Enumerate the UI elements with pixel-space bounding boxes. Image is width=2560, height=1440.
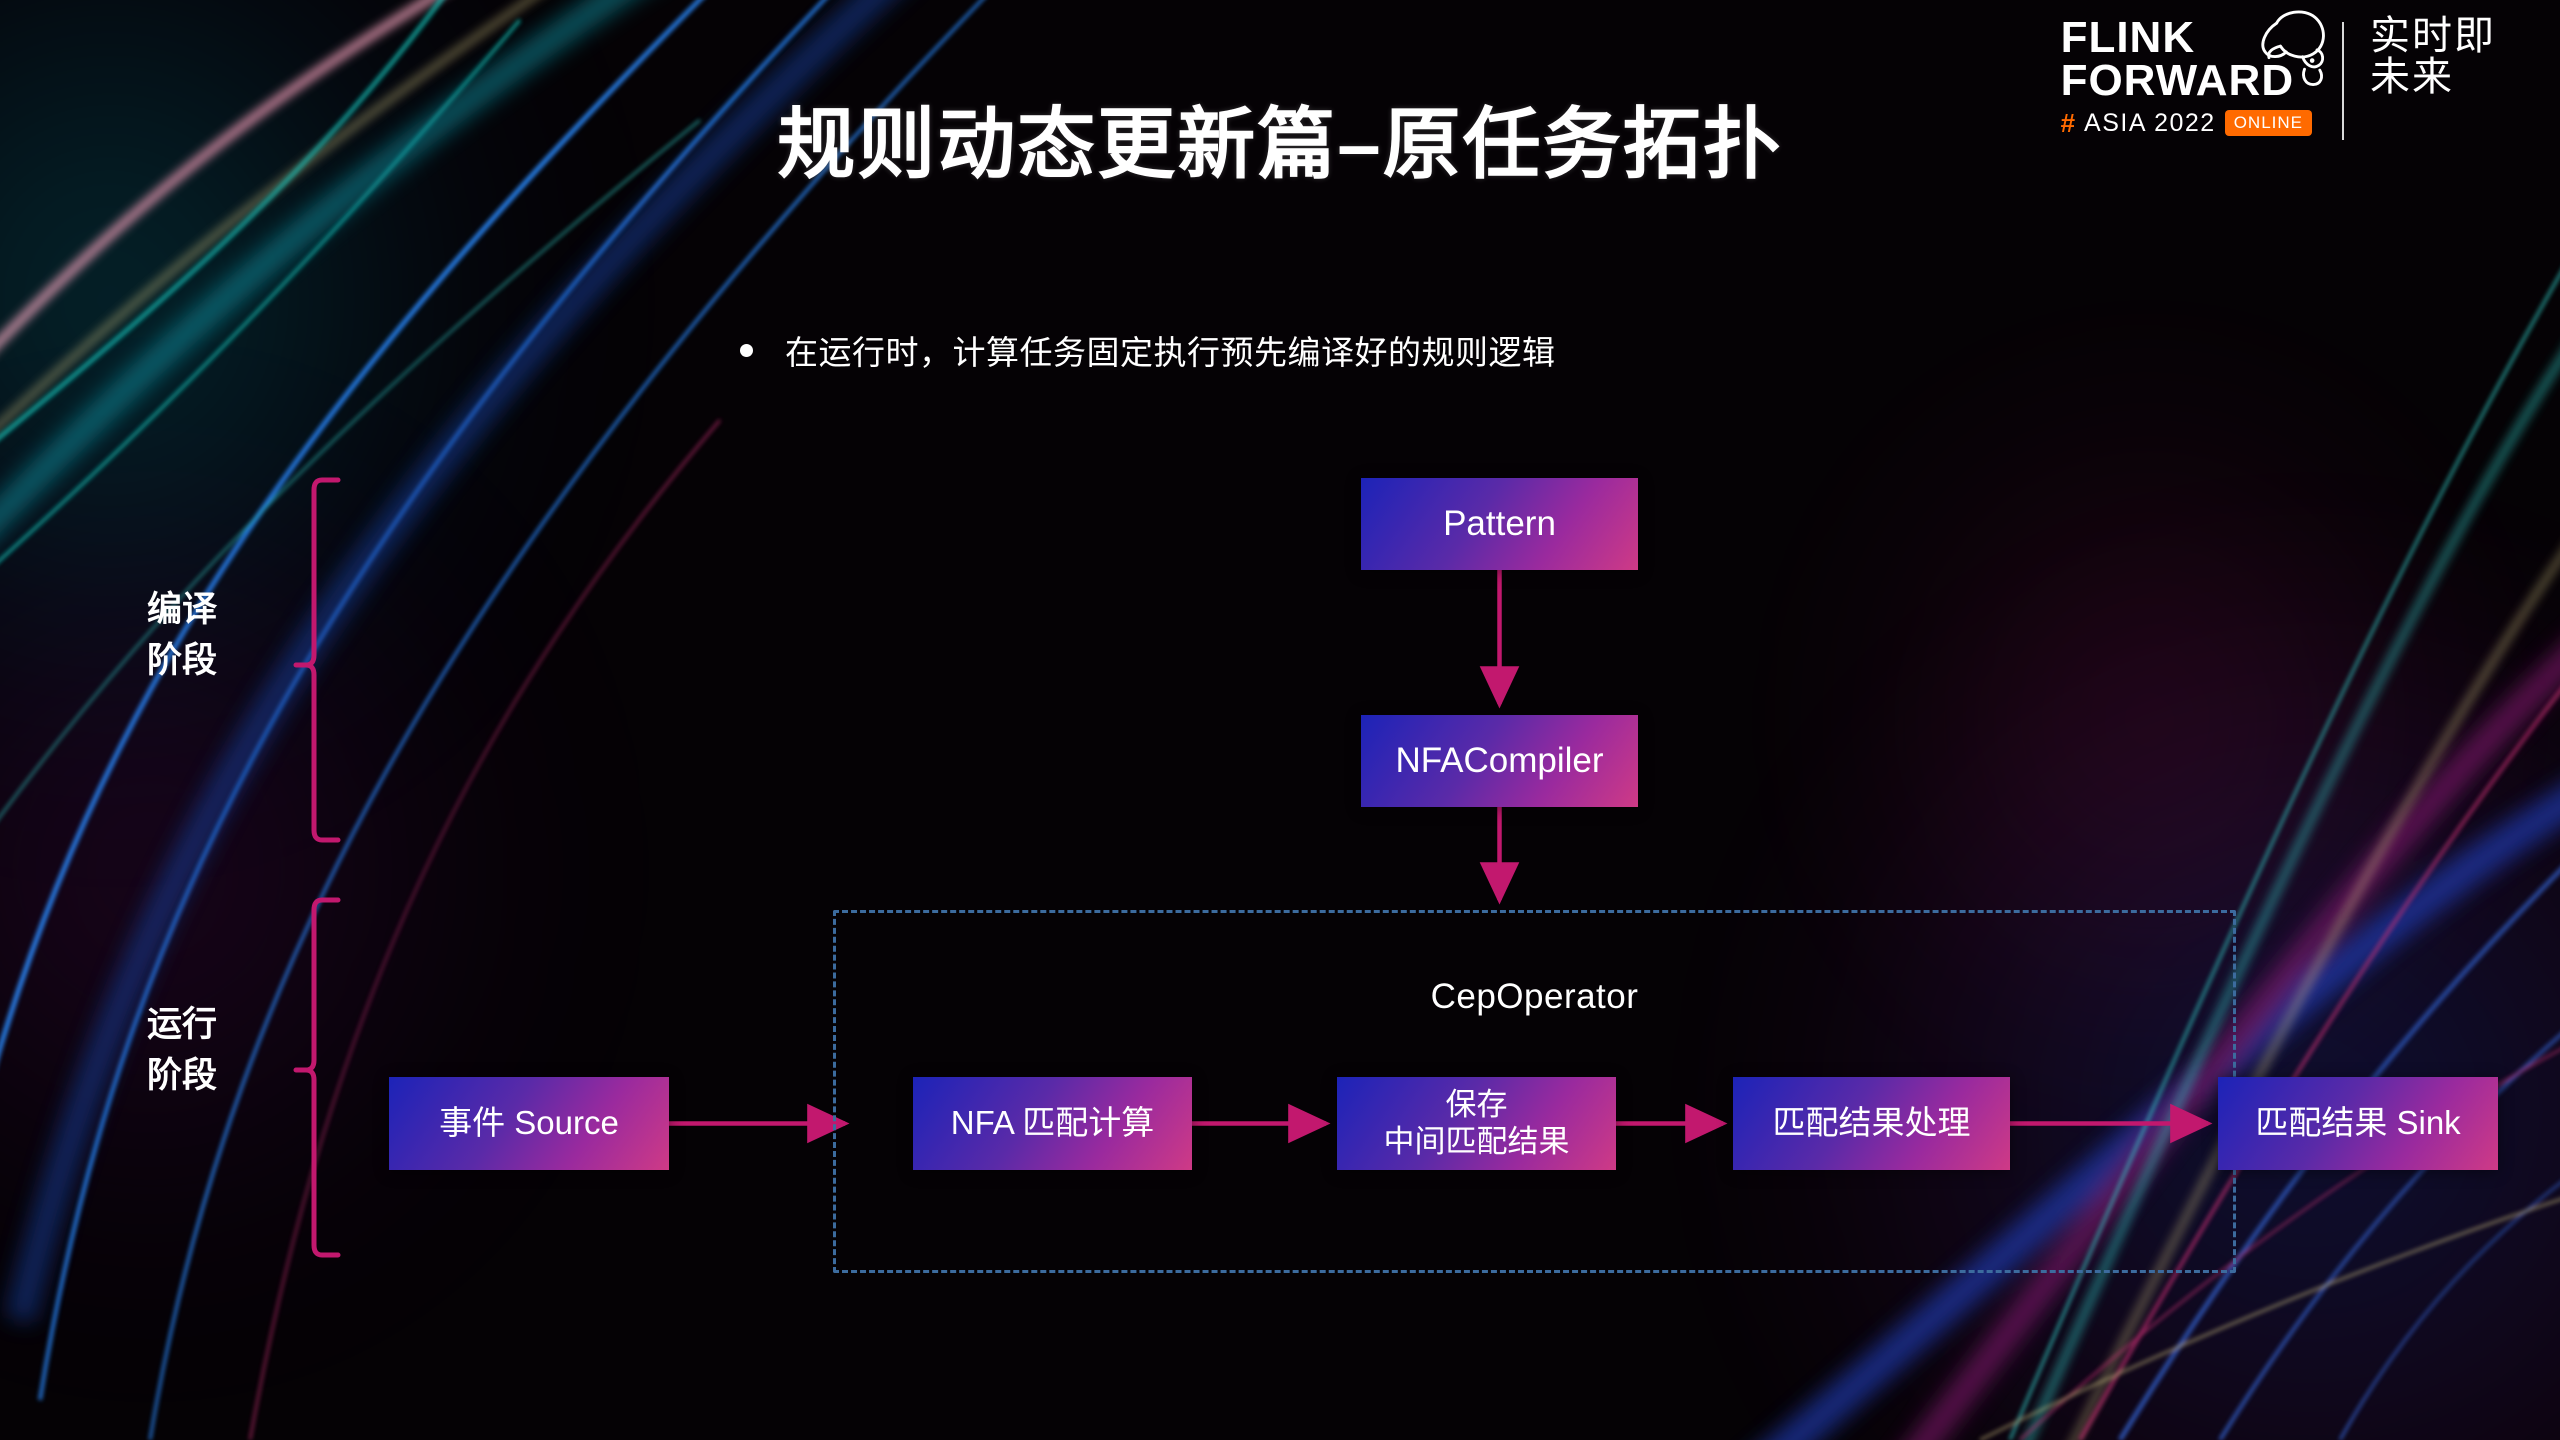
- logo-wordmark: FLINK FORWARD # ASIA 2022 ONLINE: [2061, 16, 2334, 136]
- node-match-result-process-label: 匹配结果处理: [1773, 1104, 1971, 1143]
- logo-divider: [2342, 22, 2344, 140]
- glow-magenta: [0, 420, 560, 1320]
- node-save-line2: 中间匹配结果: [1384, 1124, 1570, 1161]
- node-save-intermediate[interactable]: 保存 中间匹配结果: [1337, 1077, 1616, 1170]
- node-match-result-process[interactable]: 匹配结果处理: [1733, 1077, 2010, 1170]
- phase-label-compile: 编译 阶段: [82, 585, 282, 687]
- slide-canvas: 规则动态更新篇–原任务拓扑 FLINK FORWARD # ASIA 2022 …: [0, 0, 2560, 1440]
- phase-label-runtime: 运行 阶段: [82, 1000, 282, 1102]
- logo-cn-line2: 未来: [2370, 57, 2496, 98]
- phase-compile-line2: 阶段: [82, 636, 282, 687]
- node-match-result-sink[interactable]: 匹配结果 Sink: [2218, 1077, 2498, 1170]
- logo-online-badge: ONLINE: [2225, 110, 2312, 136]
- phase-compile-line1: 编译: [82, 585, 282, 636]
- brace-compile: [296, 480, 338, 840]
- logo-chinese-tagline: 实时即 未来: [2370, 16, 2496, 98]
- node-nfacompiler[interactable]: NFACompiler: [1361, 715, 1638, 807]
- node-save-line1: 保存: [1446, 1087, 1508, 1124]
- bullet-text: 在运行时，计算任务固定执行预先编译好的规则逻辑: [785, 326, 1556, 374]
- phase-runtime-line1: 运行: [82, 1000, 282, 1051]
- squirrel-icon: [2244, 2, 2340, 98]
- bullet-dot-icon: [740, 344, 753, 357]
- brace-runtime: [296, 900, 338, 1255]
- node-pattern-label: Pattern: [1443, 503, 1556, 544]
- node-nfa-match[interactable]: NFA 匹配计算: [913, 1077, 1192, 1170]
- node-nfa-match-label: NFA 匹配计算: [951, 1104, 1155, 1143]
- node-event-source[interactable]: 事件 Source: [389, 1077, 669, 1170]
- node-match-result-sink-label: 匹配结果 Sink: [2255, 1104, 2460, 1143]
- logo-cn-line1: 实时即: [2370, 16, 2496, 57]
- cep-operator-label: CepOperator: [836, 977, 2233, 1017]
- bullet-item: 在运行时，计算任务固定执行预先编译好的规则逻辑: [740, 326, 1556, 374]
- node-nfacompiler-label: NFACompiler: [1395, 740, 1603, 781]
- node-pattern[interactable]: Pattern: [1361, 478, 1638, 570]
- logo-edition: ASIA 2022: [2084, 111, 2216, 136]
- phase-runtime-line2: 阶段: [82, 1051, 282, 1102]
- flink-forward-logo: FLINK FORWARD # ASIA 2022 ONLINE: [2061, 16, 2496, 140]
- hash-icon: #: [2061, 110, 2075, 136]
- node-event-source-label: 事件 Source: [439, 1104, 619, 1143]
